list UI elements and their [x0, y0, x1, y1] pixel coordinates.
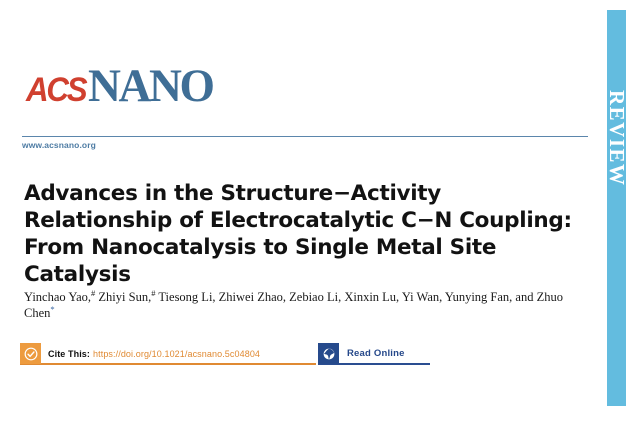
title-line-3: From Nanocatalysis to Single Metal Site	[24, 234, 524, 261]
cite-this-block[interactable]: Cite This: https://doi.org/10.1021/acsna…	[20, 344, 316, 367]
title-line-2: Relationship of Electrocatalytic C−N Cou…	[24, 207, 524, 234]
author-list: Yinchao Yao,# Zhiyi Sun,# Tiesong Li, Zh…	[24, 289, 564, 321]
cite-this-row[interactable]: Cite This: https://doi.org/10.1021/acsna…	[20, 344, 316, 365]
title-line-1: Advances in the Structure−Activity	[24, 180, 524, 207]
article-header-page: ACS NANO www.acsnano.org REVIEW Advances…	[0, 0, 640, 434]
corresponding-author-mark: *	[50, 304, 54, 314]
logo-acs-text: ACS	[26, 73, 85, 107]
author-group-2: Zhiyi Sun,	[95, 290, 151, 304]
cite-doi-link[interactable]: https://doi.org/10.1021/acsnano.5c04804	[93, 349, 260, 359]
logo-nano-text: NANO	[88, 63, 213, 110]
cite-this-label: Cite This:	[48, 349, 90, 359]
journal-website-link[interactable]: www.acsnano.org	[22, 140, 96, 150]
masthead-divider	[22, 136, 588, 137]
journal-logo[interactable]: ACS NANO	[26, 63, 216, 110]
read-online-row[interactable]: Read Online	[318, 344, 430, 365]
read-online-block[interactable]: Read Online	[318, 344, 430, 367]
article-type-label: REVIEW	[607, 10, 626, 406]
page-title: Advances in the Structure−Activity Relat…	[24, 180, 524, 288]
globe-icon	[318, 343, 339, 364]
author-group-1: Yinchao Yao,	[24, 290, 91, 304]
title-line-4: Catalysis	[24, 261, 524, 288]
author-group-3: Tiesong Li, Zhiwei Zhao, Zebiao Li, Xinx…	[155, 290, 512, 304]
check-circle-icon	[20, 343, 41, 364]
read-online-label: Read Online	[347, 348, 405, 359]
